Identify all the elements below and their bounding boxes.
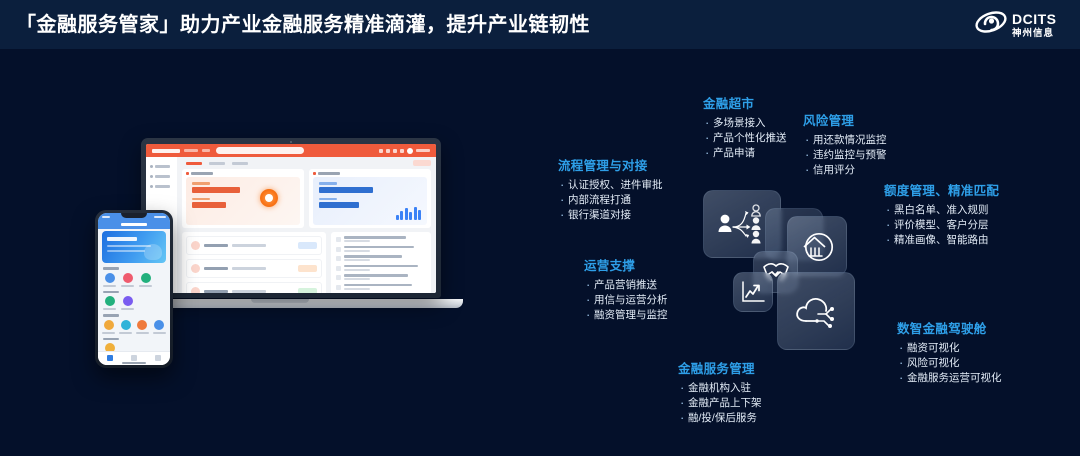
phone-tabbar: [98, 351, 170, 365]
list-item: 产品申请: [703, 146, 787, 161]
icon-grid: [102, 296, 166, 310]
grid-item-label: [153, 332, 166, 334]
block-title: 金融超市: [703, 93, 787, 112]
item-date: [344, 278, 370, 280]
item-desc: [232, 244, 266, 247]
thumbnail: [336, 285, 341, 290]
user-name[interactable]: [416, 149, 430, 152]
grid-item-label: [119, 332, 132, 334]
list-item[interactable]: [186, 259, 322, 278]
tile-chart-trending-up: [733, 272, 773, 312]
laptop-notch: [251, 299, 309, 303]
item-date: [344, 288, 370, 290]
list-item: 产品个性化推送: [703, 131, 787, 146]
block-title: 运营支撑: [584, 255, 668, 274]
slide-canvas: 「金融服务管家」助力产业金融服务精准滴灌，提升产业链韧性 DCITS 神州信息: [0, 0, 1080, 456]
dashboard-topbar: [146, 144, 436, 157]
sidebar-item[interactable]: [150, 165, 177, 168]
block-items: 融资可视化 风险可视化 金融服务运营可视化: [897, 341, 1002, 386]
more-icon: [154, 320, 164, 330]
clock: [102, 216, 110, 218]
svg-text:神州信息: 神州信息: [1012, 27, 1054, 39]
list-item: 认证授权、进件审批: [558, 178, 663, 193]
grid-item[interactable]: [119, 320, 133, 334]
item-date: [344, 240, 370, 242]
search-icon[interactable]: [386, 149, 390, 153]
banner-line: [107, 250, 145, 252]
metric-value: [192, 202, 226, 208]
bell-icon[interactable]: [393, 149, 397, 153]
metric-label: [319, 198, 337, 201]
block-fengxian-guanli: 风险管理 用还款情况监控 违约监控与预警 信用评分: [803, 110, 887, 178]
section-label: [103, 291, 119, 294]
block-jinrong-chaoshi: 金融超市 多场景接入 产品个性化推送 产品申请: [703, 93, 787, 161]
list-item: 违约监控与预警: [803, 148, 887, 163]
list-icon: [150, 175, 153, 178]
thumbnail: [336, 237, 341, 242]
dcits-logo: DCITS 神州信息: [974, 7, 1070, 41]
sidebar-item[interactable]: [150, 185, 177, 188]
block-yunying-zhicheng: 运营支撑 产品营销推送 用信与运营分析 融资管理与监控: [584, 255, 668, 323]
metric-value: [319, 202, 359, 208]
list-item: 精准画像、智能路由: [884, 233, 999, 248]
cloud-computing-icon: [793, 292, 839, 330]
card-title-text: [191, 172, 213, 175]
list-item: 用还款情况监控: [803, 133, 887, 148]
swirl-logo-icon: [974, 9, 1008, 35]
block-liucheng-guanli: 流程管理与对接 认证授权、进件审批 内部流程打通 银行渠道对接: [558, 155, 663, 223]
block-title: 数智金融驾驶舱: [897, 318, 1002, 337]
avatar: [191, 287, 200, 293]
list-item: 黑白名单、准入规则: [884, 203, 999, 218]
dashboard-tabs: [182, 160, 431, 166]
item-title: [344, 236, 406, 239]
dashboard-menu-item[interactable]: [184, 149, 198, 152]
device-mockups: [95, 138, 465, 368]
sidebar-item-label: [155, 165, 170, 168]
service-icon: [104, 320, 114, 330]
card-title-text: [318, 172, 340, 175]
item-title: [204, 290, 228, 293]
item-date: [344, 269, 370, 271]
icon-grid: [102, 320, 166, 334]
list-item[interactable]: [336, 246, 426, 252]
list-item: 评价模型、客户分层: [884, 218, 999, 233]
avatar: [191, 264, 200, 273]
slide-header: 「金融服务管家」助力产业金融服务精准滴灌，提升产业链韧性 DCITS 神州信息: [0, 0, 1080, 49]
metric-value: [319, 187, 373, 193]
list-item: 信用评分: [803, 163, 887, 178]
grid-item-label: [121, 285, 134, 287]
thumbnail: [336, 247, 341, 252]
item-date: [344, 250, 370, 252]
metric-label: [192, 182, 210, 185]
invest-icon: [123, 296, 133, 306]
block-items: 黑白名单、准入规则 评价模型、客户分层 精准画像、智能路由: [884, 203, 999, 248]
item-title: [204, 267, 228, 270]
laptop-screen: [146, 144, 436, 293]
tab-overview[interactable]: [186, 162, 202, 165]
bank-coin-icon: [800, 229, 834, 263]
list-item[interactable]: [186, 282, 322, 293]
report-icon: [137, 320, 147, 330]
grid-item[interactable]: [102, 273, 117, 287]
grid-item-label: [103, 308, 116, 310]
grid-item[interactable]: [152, 320, 166, 334]
item-title: [344, 274, 408, 277]
block-edu-guanli: 额度管理、精准匹配 黑白名单、准入规则 评价模型、客户分层 精准画像、智能路由: [884, 180, 999, 248]
grid-item[interactable]: [120, 273, 135, 287]
phone-section-financing: [98, 267, 170, 357]
list-item[interactable]: [336, 274, 426, 280]
block-title: 额度管理、精准匹配: [884, 180, 999, 199]
status-badge: [298, 265, 317, 272]
item-title: [344, 246, 414, 249]
dashboard-topbar-actions: [379, 148, 430, 154]
list-item[interactable]: [336, 265, 426, 271]
status-badge: [298, 288, 317, 293]
dashboard-search-input[interactable]: [216, 147, 304, 154]
people-network-icon: [716, 202, 768, 246]
grid-icon[interactable]: [379, 149, 383, 153]
kpi-panel: [186, 177, 300, 225]
avatar[interactable]: [407, 148, 413, 154]
dashboard-lower-row: [182, 232, 431, 293]
thumbnail: [336, 256, 341, 261]
item-title: [344, 255, 402, 258]
phone-device: [95, 210, 173, 368]
primary-action-button[interactable]: [413, 160, 431, 166]
list-item: 融资管理与监控: [584, 308, 668, 323]
list-item: 多场景接入: [703, 116, 787, 131]
section-label: [103, 338, 119, 341]
capability-icon-cluster: [703, 188, 883, 360]
grid-item-label: [139, 285, 152, 287]
item-title: [204, 244, 228, 247]
tab-profile-icon[interactable]: [155, 355, 161, 361]
status-badge: [298, 242, 317, 249]
insurance-icon: [141, 273, 151, 283]
list-item[interactable]: [336, 236, 426, 242]
item-title: [344, 284, 412, 287]
sidebar-item-label: [155, 185, 170, 188]
thumbnail: [336, 275, 341, 280]
section-label: [103, 267, 119, 270]
dashboard-logo: [152, 149, 180, 153]
block-items: 认证授权、进件审批 内部流程打通 银行渠道对接: [558, 178, 663, 223]
icon-grid: [102, 273, 166, 287]
list-item[interactable]: [336, 255, 426, 261]
dashboard-main: [177, 157, 436, 293]
grid-item-label: [103, 285, 116, 287]
block-items: 产品营销推送 用信与运营分析 融资管理与监控: [584, 278, 668, 323]
grid-item[interactable]: [138, 273, 153, 287]
block-shuzhi-jiashicang: 数智金融驾驶舱 融资可视化 风险可视化 金融服务运营可视化: [897, 318, 1002, 386]
laptop-camera-icon: [290, 141, 292, 143]
tab-orders-icon[interactable]: [131, 355, 137, 361]
tab-home-icon[interactable]: [107, 355, 113, 361]
highlight-burst-icon: [260, 189, 278, 207]
credit-icon: [123, 273, 133, 283]
app-title: [121, 223, 147, 226]
list-item: 融/投/保后服务: [678, 411, 762, 426]
dashboard-kpi-row: [182, 169, 431, 228]
list-item: 产品营销推送: [584, 278, 668, 293]
phone-screen: [98, 213, 170, 365]
metric-value: [192, 187, 240, 193]
grid-item[interactable]: [102, 320, 116, 334]
grid-item-label: [121, 308, 134, 310]
card-title: [186, 172, 300, 175]
block-title: 金融服务管理: [678, 358, 762, 377]
block-items: 用还款情况监控 违约监控与预警 信用评分: [803, 133, 887, 178]
dashboard-menu-item[interactable]: [202, 149, 210, 152]
thumbnail: [336, 266, 341, 271]
section-label: [103, 314, 119, 317]
kpi-card-credit: [309, 169, 431, 228]
page-title: 「金融服务管家」助力产业金融服务精准滴灌，提升产业链韧性: [16, 8, 590, 37]
metric-label: [192, 198, 210, 201]
svg-text:DCITS: DCITS: [1012, 11, 1057, 27]
signal-icon: [154, 216, 166, 218]
grid-item[interactable]: [136, 320, 150, 334]
block-jinrong-fuwu-guanli: 金融服务管理 金融机构入驻 金融产品上下架 融/投/保后服务: [678, 358, 762, 426]
avatar: [191, 241, 200, 250]
grid-item-label: [136, 332, 149, 334]
banner-line: [107, 245, 151, 247]
status-dot: [186, 172, 189, 175]
tab-second[interactable]: [209, 162, 225, 165]
phone-notch: [121, 213, 147, 218]
sidebar-item-label: [155, 175, 170, 178]
dashboard-body: [146, 157, 436, 293]
chart-trending-up-icon: [740, 280, 766, 304]
promo-banner[interactable]: [102, 231, 166, 263]
list-item: 用信与运营分析: [584, 293, 668, 308]
grid-item[interactable]: [102, 296, 117, 310]
loan-icon: [105, 273, 115, 283]
list-item: 银行渠道对接: [558, 208, 663, 223]
help-icon[interactable]: [400, 149, 404, 153]
fund-icon: [105, 296, 115, 306]
kpi-panel: [313, 177, 427, 225]
block-items: 金融机构入驻 金融产品上下架 融/投/保后服务: [678, 381, 762, 426]
block-title: 流程管理与对接: [558, 155, 663, 174]
metric-label: [319, 182, 337, 185]
tab-third[interactable]: [232, 162, 248, 165]
bar-chart-icon: [396, 207, 422, 220]
task-list: [182, 232, 326, 293]
grid-item[interactable]: [120, 296, 135, 310]
block-items: 多场景接入 产品个性化推送 产品申请: [703, 116, 787, 161]
status-dot: [313, 172, 316, 175]
item-desc: [232, 290, 266, 293]
list-item: 金融服务运营可视化: [897, 371, 1002, 386]
item-desc: [232, 267, 266, 270]
item-title: [344, 265, 418, 268]
phone-app-header: [98, 220, 170, 229]
banner-title: [107, 237, 137, 241]
list-item: 内部流程打通: [558, 193, 663, 208]
sidebar-item[interactable]: [150, 175, 177, 178]
home-icon: [150, 165, 153, 168]
policy-icon: [121, 320, 131, 330]
block-title: 风险管理: [803, 110, 887, 129]
list-item: 融资可视化: [897, 341, 1002, 356]
list-item[interactable]: [186, 236, 322, 255]
list-item: 金融产品上下架: [678, 396, 762, 411]
card-title: [313, 172, 427, 175]
home-indicator: [122, 362, 146, 364]
laptop-lid: [141, 138, 441, 298]
list-item[interactable]: [336, 284, 426, 290]
chart-icon: [150, 185, 153, 188]
grid-item-label: [102, 332, 115, 334]
kpi-card-financing: [182, 169, 304, 228]
item-date: [344, 259, 370, 261]
list-item: 风险可视化: [897, 356, 1002, 371]
list-item: 金融机构入驻: [678, 381, 762, 396]
tile-cloud-computing: [777, 272, 855, 350]
news-list: [331, 232, 431, 293]
